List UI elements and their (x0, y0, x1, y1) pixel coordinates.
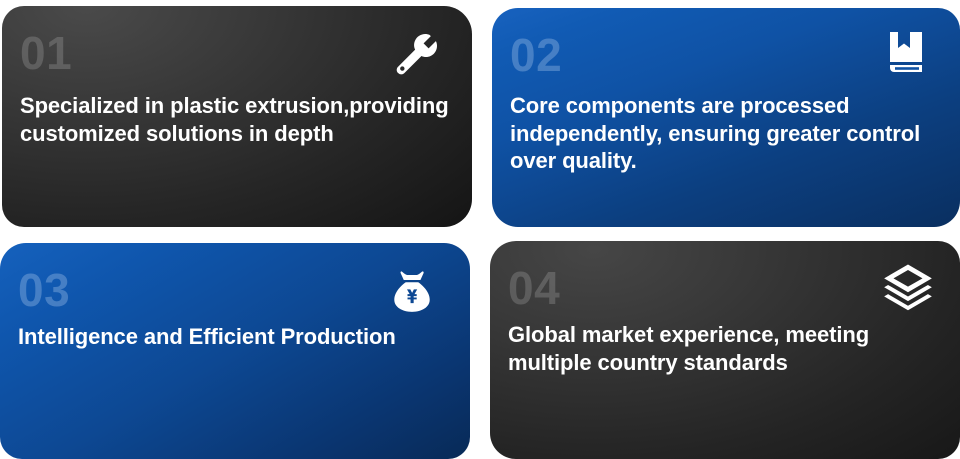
feature-card-03[interactable]: 03 Intelligence and Efficient Production (0, 243, 470, 459)
feature-card-grid: 01 Specialized in plastic extrusion,prov… (0, 0, 960, 459)
card-content: 01 Specialized in plastic extrusion,prov… (2, 6, 472, 227)
bookmark-book-icon (880, 26, 932, 78)
layers-stack-icon (882, 261, 934, 313)
card-description: Core components are processed independen… (510, 92, 940, 175)
feature-card-02[interactable]: 02 Core components are processed indepen… (492, 8, 960, 227)
card-content: 02 Core components are processed indepen… (492, 8, 960, 227)
feature-card-01[interactable]: 01 Specialized in plastic extrusion,prov… (2, 6, 472, 227)
feature-card-04[interactable]: 04 Global market experience, meeting mul… (490, 241, 960, 459)
wrench-icon (388, 28, 440, 80)
card-description: Specialized in plastic extrusion,providi… (20, 92, 450, 147)
card-number: 02 (510, 32, 940, 78)
card-number: 04 (508, 265, 940, 311)
card-content: 04 Global market experience, meeting mul… (490, 241, 960, 459)
card-description: Intelligence and Efficient Production (18, 323, 448, 351)
card-description: Global market experience, meeting multip… (508, 321, 938, 376)
money-bag-yen-icon (386, 265, 438, 317)
card-content: 03 Intelligence and Efficient Production (0, 243, 470, 459)
